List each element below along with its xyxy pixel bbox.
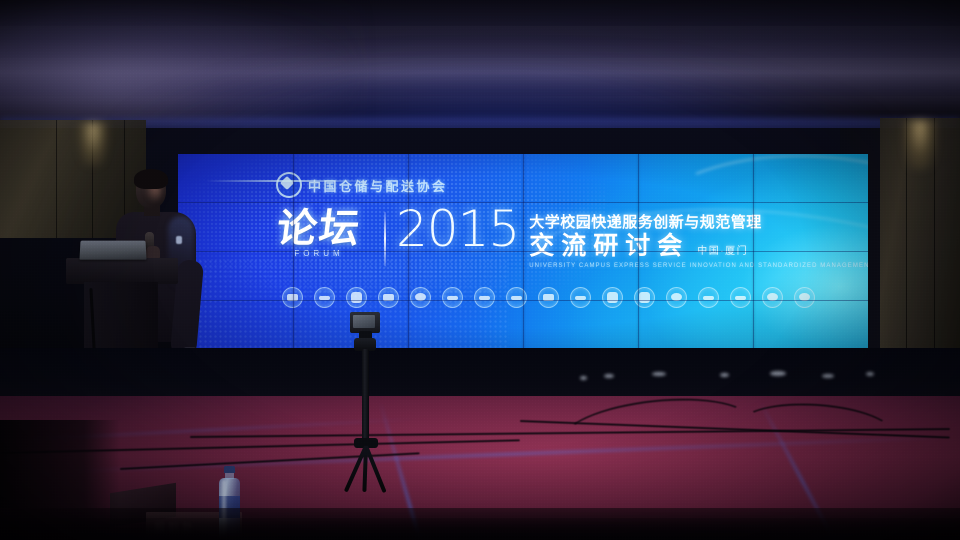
led-video-wall[interactable]: 中国仓储与配送协会 论坛 FORUM 2015 大学校园快递服务创新与规范管理 … bbox=[178, 154, 868, 349]
speaker-hair bbox=[134, 169, 168, 189]
screen-bezel bbox=[178, 154, 868, 349]
camera-tripod bbox=[330, 312, 402, 494]
bottle-cap bbox=[224, 466, 235, 473]
camera-screen bbox=[353, 315, 375, 328]
laptop bbox=[79, 241, 146, 260]
floor-shadow bbox=[0, 508, 960, 540]
tripod-leg bbox=[362, 446, 368, 492]
stage-edge-glints bbox=[560, 368, 900, 394]
podium-top bbox=[66, 258, 178, 284]
wall-spotlight bbox=[78, 122, 108, 166]
speaker-badge bbox=[176, 236, 182, 244]
bottle-neck bbox=[225, 472, 234, 479]
conference-photo: 中国仓储与配送协会 论坛 FORUM 2015 大学校园快递服务创新与规范管理 … bbox=[0, 0, 960, 540]
wall-spotlight-right bbox=[903, 120, 937, 170]
tripod-column bbox=[362, 349, 369, 441]
